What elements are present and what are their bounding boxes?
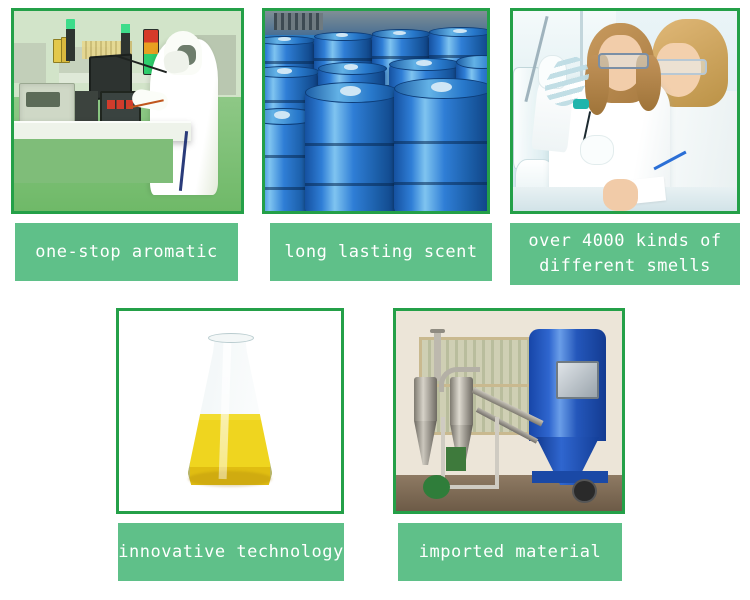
feature-grid: one-stop aromatic long lasting scent	[0, 0, 750, 600]
lab-bench-photo	[14, 11, 241, 211]
caption-line: imported material	[419, 540, 602, 565]
feature-card-innovative-technology[interactable]: innovative technology	[116, 308, 344, 583]
feature-caption: one-stop aromatic	[15, 223, 238, 281]
feature-caption: imported material	[398, 523, 622, 581]
blue-drums-photo	[265, 11, 487, 211]
feature-caption: innovative technology	[118, 523, 344, 581]
yellow-flask-photo	[119, 311, 341, 511]
photo-frame	[116, 308, 344, 514]
photo-frame	[262, 8, 490, 214]
feature-card-one-stop-aromatic[interactable]: one-stop aromatic	[11, 8, 244, 288]
feature-caption: over 4000 kinds of different smells	[510, 223, 740, 285]
photo-frame	[393, 308, 625, 514]
caption-line: different smells	[539, 254, 711, 279]
industrial-equipment-photo	[396, 311, 622, 511]
caption-line: over 4000 kinds of	[528, 229, 721, 254]
caption-line: innovative technology	[118, 540, 343, 565]
caption-line: one-stop aromatic	[35, 240, 218, 265]
photo-frame	[11, 8, 244, 214]
feature-card-over-4000-kinds[interactable]: over 4000 kinds of different smells	[510, 8, 740, 288]
feature-card-long-lasting-scent[interactable]: long lasting scent	[262, 8, 490, 288]
feature-caption: long lasting scent	[270, 223, 492, 281]
lab-scientists-photo	[513, 11, 737, 211]
caption-line: long lasting scent	[284, 240, 477, 265]
feature-card-imported-material[interactable]: imported material	[393, 308, 625, 583]
photo-frame	[510, 8, 740, 214]
